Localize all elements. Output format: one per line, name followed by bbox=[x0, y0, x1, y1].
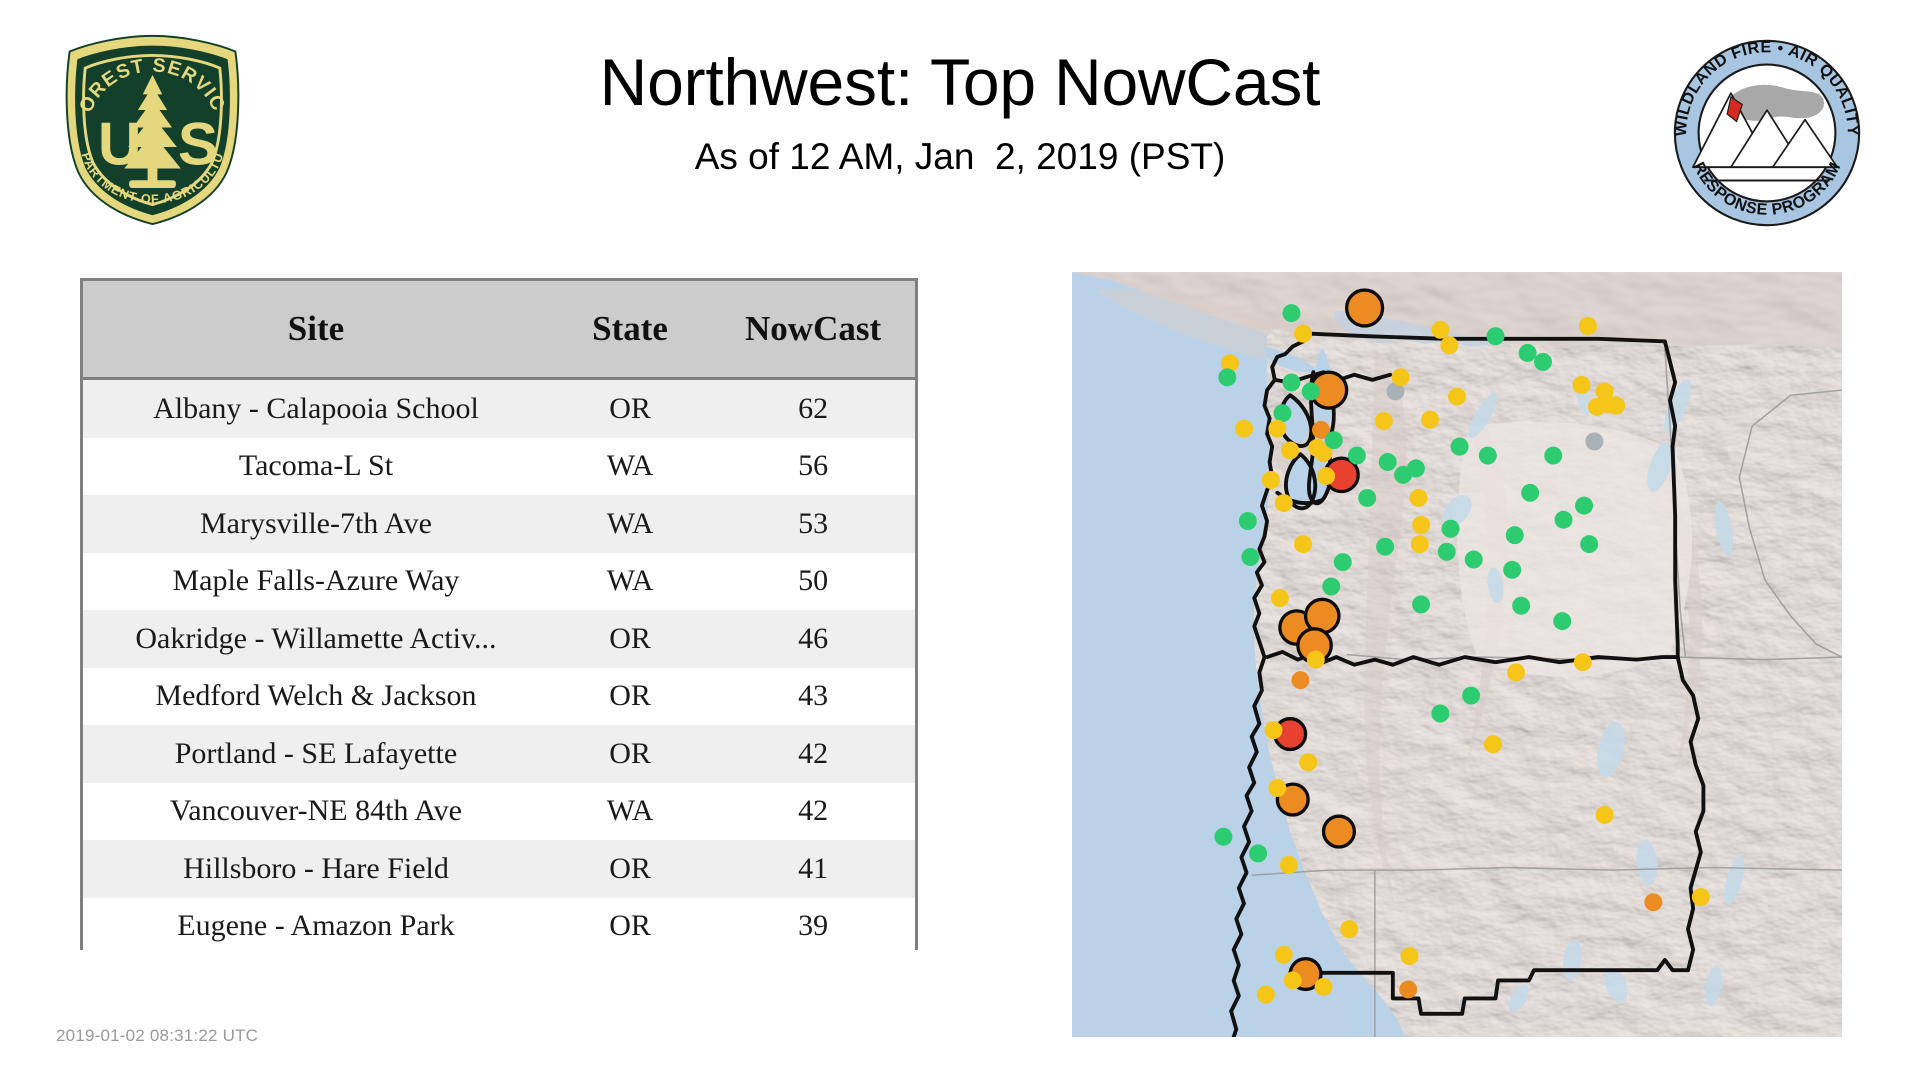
table-row[interactable]: Maple Falls-Azure WayWA50 bbox=[83, 553, 915, 611]
cell-state: OR bbox=[549, 610, 711, 668]
monitor-dot[interactable] bbox=[1585, 432, 1603, 450]
monitor-dot[interactable] bbox=[1265, 721, 1283, 739]
cell-nowcast: 43 bbox=[711, 668, 915, 726]
monitor-dot[interactable] bbox=[1302, 382, 1320, 400]
cell-nowcast: 46 bbox=[711, 610, 915, 668]
wildland-fire-air-quality-seal-icon: WILDLAND FIRE • AIR QUALITY RESPONSE PRO… bbox=[1672, 38, 1862, 228]
cell-nowcast: 53 bbox=[711, 495, 915, 553]
monitor-dot[interactable] bbox=[1410, 489, 1428, 507]
cell-state: WA bbox=[549, 553, 711, 611]
title-block: Northwest: Top NowCast As of 12 AM, Jan … bbox=[300, 46, 1620, 178]
monitor-dot[interactable] bbox=[1421, 411, 1439, 429]
footer-timestamp: 2019-01-02 08:31:22 UTC bbox=[56, 1026, 258, 1046]
monitor-dot[interactable] bbox=[1442, 520, 1460, 538]
monitor-dot[interactable] bbox=[1375, 412, 1393, 430]
monitor-dot[interactable] bbox=[1317, 467, 1335, 485]
monitor-dot[interactable] bbox=[1521, 484, 1539, 502]
cell-nowcast: 56 bbox=[711, 438, 915, 496]
cell-state: OR bbox=[549, 379, 711, 438]
table-row[interactable]: Hillsboro - Hare FieldOR41 bbox=[83, 840, 915, 898]
monitor-dot[interactable] bbox=[1544, 447, 1562, 465]
monitor-dot[interactable] bbox=[1291, 671, 1309, 689]
monitor-dot[interactable] bbox=[1214, 828, 1232, 846]
table-row[interactable]: Portland - SE LafayetteOR42 bbox=[83, 725, 915, 783]
cell-state: WA bbox=[549, 783, 711, 841]
monitor-dot[interactable] bbox=[1324, 816, 1355, 847]
cell-site: Marysville-7th Ave bbox=[83, 495, 549, 553]
monitor-dot[interactable] bbox=[1284, 971, 1302, 989]
monitor-dot[interactable] bbox=[1268, 420, 1286, 438]
monitor-dot[interactable] bbox=[1507, 663, 1525, 681]
monitor-dot[interactable] bbox=[1376, 538, 1394, 556]
monitor-dot[interactable] bbox=[1465, 551, 1483, 569]
monitor-dot[interactable] bbox=[1555, 511, 1573, 529]
monitor-dot[interactable] bbox=[1379, 453, 1397, 471]
monitor-dot[interactable] bbox=[1580, 535, 1598, 553]
monitor-dot[interactable] bbox=[1235, 420, 1253, 438]
cell-state: OR bbox=[549, 668, 711, 726]
table-row[interactable]: Oakridge - Willamette Activ...OR46 bbox=[83, 610, 915, 668]
monitor-dot[interactable] bbox=[1644, 893, 1662, 911]
monitor-dot[interactable] bbox=[1280, 856, 1298, 874]
monitor-dot[interactable] bbox=[1399, 980, 1417, 998]
monitor-dot[interactable] bbox=[1271, 589, 1289, 607]
monitor-dot[interactable] bbox=[1347, 290, 1383, 326]
monitor-dot[interactable] bbox=[1411, 535, 1429, 553]
monitor-dot[interactable] bbox=[1451, 438, 1469, 456]
monitor-dot[interactable] bbox=[1218, 368, 1236, 386]
table-row[interactable]: Marysville-7th AveWA53 bbox=[83, 495, 915, 553]
table-row[interactable]: Eugene - Amazon ParkOR39 bbox=[83, 898, 915, 956]
cell-site: Medford Welch & Jackson bbox=[83, 668, 549, 726]
table-row[interactable]: Albany - Calapooia SchoolOR62 bbox=[83, 379, 915, 438]
monitor-dot[interactable] bbox=[1294, 535, 1312, 553]
monitor-dot[interactable] bbox=[1448, 388, 1466, 406]
cell-site: Oakridge - Willamette Activ... bbox=[83, 610, 549, 668]
monitor-dot[interactable] bbox=[1249, 844, 1267, 862]
cell-site: Maple Falls-Azure Way bbox=[83, 553, 549, 611]
monitor-dot[interactable] bbox=[1438, 543, 1456, 561]
monitor-dot[interactable] bbox=[1268, 779, 1286, 797]
column-header-site[interactable]: Site bbox=[83, 281, 549, 379]
cell-site: Albany - Calapooia School bbox=[83, 379, 549, 438]
monitor-dot[interactable] bbox=[1692, 888, 1710, 906]
cell-site: Hillsboro - Hare Field bbox=[83, 840, 549, 898]
table-header-row: Site State NowCast bbox=[83, 281, 915, 379]
cell-site: Portland - SE Lafayette bbox=[83, 725, 549, 783]
cell-state: WA bbox=[549, 438, 711, 496]
monitor-dot[interactable] bbox=[1440, 336, 1458, 354]
monitor-dot[interactable] bbox=[1262, 471, 1280, 489]
monitor-dot[interactable] bbox=[1315, 978, 1333, 996]
nowcast-table-panel: Site State NowCast Albany - Calapooia Sc… bbox=[80, 278, 918, 950]
monitor-dot[interactable] bbox=[1431, 321, 1449, 339]
monitor-dot[interactable] bbox=[1412, 516, 1430, 534]
us-forest-service-shield-icon: FOREST SERVICE U S DEPARTMENT OF AGRICUL… bbox=[55, 32, 250, 227]
cell-site: Eugene - Amazon Park bbox=[83, 898, 549, 956]
monitor-dot[interactable] bbox=[1401, 947, 1419, 965]
monitor-dot[interactable] bbox=[1348, 447, 1366, 465]
page-title: Northwest: Top NowCast bbox=[300, 46, 1620, 120]
monitor-dot[interactable] bbox=[1503, 561, 1521, 579]
table-header: Site State NowCast bbox=[83, 281, 915, 379]
monitor-dot[interactable] bbox=[1579, 317, 1597, 335]
monitor-dot[interactable] bbox=[1334, 553, 1352, 571]
cell-nowcast: 42 bbox=[711, 783, 915, 841]
monitor-dot[interactable] bbox=[1282, 373, 1300, 391]
monitor-dot[interactable] bbox=[1484, 735, 1502, 753]
monitor-dot[interactable] bbox=[1282, 304, 1300, 322]
cell-site: Vancouver-NE 84th Ave bbox=[83, 783, 549, 841]
monitor-dot[interactable] bbox=[1358, 489, 1376, 507]
monitor-dot[interactable] bbox=[1273, 404, 1291, 422]
monitor-dot[interactable] bbox=[1574, 653, 1592, 671]
monitor-dot[interactable] bbox=[1575, 497, 1593, 515]
cell-state: OR bbox=[549, 840, 711, 898]
monitor-dot[interactable] bbox=[1573, 376, 1591, 394]
monitor-dot[interactable] bbox=[1307, 651, 1325, 669]
monitor-dot[interactable] bbox=[1340, 920, 1358, 938]
table-row[interactable]: Vancouver-NE 84th AveWA42 bbox=[83, 783, 915, 841]
monitor-dot[interactable] bbox=[1394, 466, 1412, 484]
cell-nowcast: 62 bbox=[711, 379, 915, 438]
pnw-monitor-map[interactable] bbox=[1072, 272, 1842, 1037]
monitor-dot[interactable] bbox=[1599, 395, 1617, 413]
page-header: FOREST SERVICE U S DEPARTMENT OF AGRICUL… bbox=[0, 0, 1920, 270]
monitor-dot[interactable] bbox=[1512, 597, 1530, 615]
monitor-dot[interactable] bbox=[1462, 687, 1480, 705]
table-row[interactable]: Medford Welch & JacksonOR43 bbox=[83, 668, 915, 726]
cell-nowcast: 41 bbox=[711, 840, 915, 898]
monitor-dot[interactable] bbox=[1275, 946, 1293, 964]
cell-state: WA bbox=[549, 495, 711, 553]
monitor-dot[interactable] bbox=[1596, 806, 1614, 824]
cell-site: Tacoma-L St bbox=[83, 438, 549, 496]
monitor-dot[interactable] bbox=[1257, 986, 1275, 1004]
monitor-dot[interactable] bbox=[1281, 441, 1299, 459]
cell-state: OR bbox=[549, 898, 711, 956]
page-subtitle: As of 12 AM, Jan 2, 2019 (PST) bbox=[300, 136, 1620, 178]
cell-nowcast: 39 bbox=[711, 898, 915, 956]
monitor-dot[interactable] bbox=[1487, 327, 1505, 345]
monitor-dot[interactable] bbox=[1239, 512, 1257, 530]
column-header-state[interactable]: State bbox=[549, 281, 711, 379]
monitor-dot[interactable] bbox=[1322, 578, 1340, 596]
nowcast-table: Site State NowCast Albany - Calapooia Sc… bbox=[83, 281, 915, 955]
monitor-dot[interactable] bbox=[1534, 353, 1552, 371]
monitor-dot[interactable] bbox=[1294, 325, 1312, 343]
monitor-dot[interactable] bbox=[1553, 612, 1571, 630]
monitor-dot[interactable] bbox=[1506, 526, 1524, 544]
monitor-dot[interactable] bbox=[1519, 344, 1537, 362]
monitor-dot[interactable] bbox=[1431, 705, 1449, 723]
monitor-dot[interactable] bbox=[1479, 447, 1497, 465]
monitor-dot[interactable] bbox=[1299, 753, 1317, 771]
monitor-dot[interactable] bbox=[1412, 595, 1430, 613]
map-panel[interactable] bbox=[1072, 272, 1842, 1037]
cell-nowcast: 50 bbox=[711, 553, 915, 611]
table-body: Albany - Calapooia SchoolOR62Tacoma-L St… bbox=[83, 379, 915, 956]
monitor-dot[interactable] bbox=[1325, 431, 1343, 449]
table-row[interactable]: Tacoma-L StWA56 bbox=[83, 438, 915, 496]
cell-nowcast: 42 bbox=[711, 725, 915, 783]
monitor-dot[interactable] bbox=[1275, 494, 1293, 512]
column-header-nowcast[interactable]: NowCast bbox=[711, 281, 915, 379]
monitor-dot[interactable] bbox=[1392, 368, 1410, 386]
monitor-dot[interactable] bbox=[1241, 548, 1259, 566]
cell-state: OR bbox=[549, 725, 711, 783]
